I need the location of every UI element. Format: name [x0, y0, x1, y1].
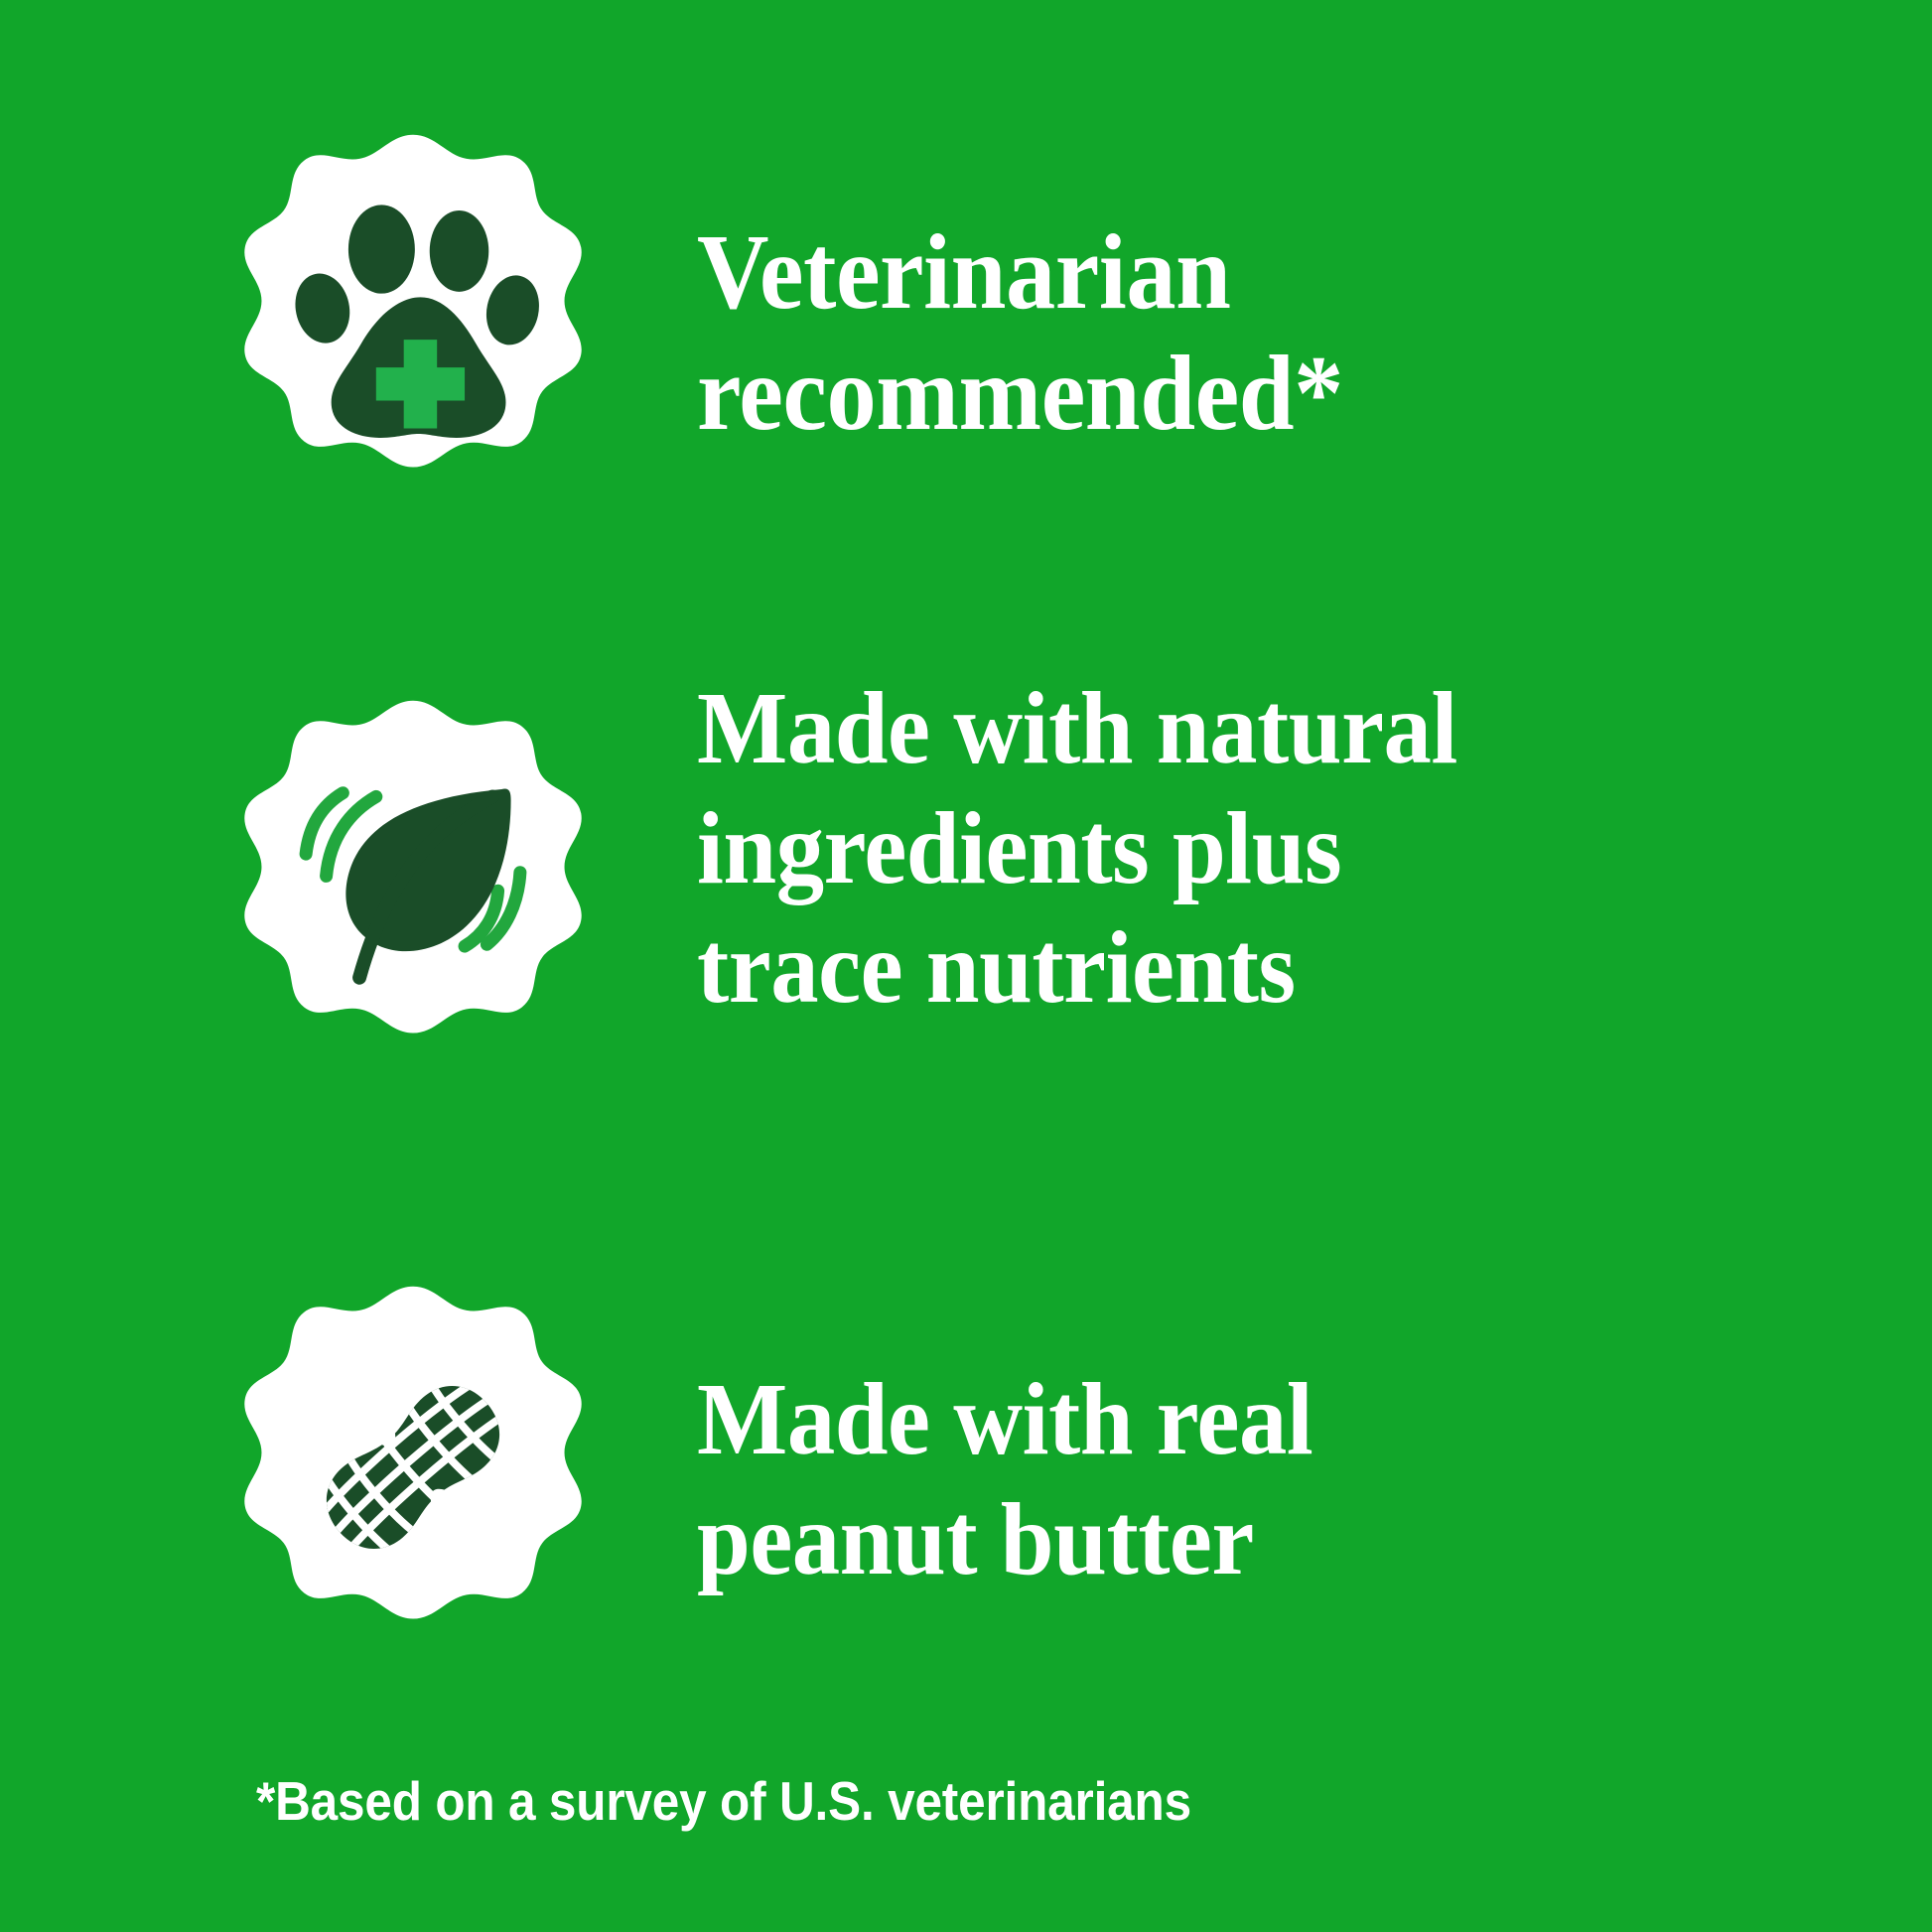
feature-headline: Made with real peanut butter	[697, 1360, 1312, 1599]
footnote-disclaimer: *Based on a survey of U.S. veterinarians	[256, 1769, 1191, 1833]
badge-scallop-shape	[228, 131, 598, 500]
feature-row: Made with real peanut butter	[0, 1283, 1932, 1652]
leaf-badge-icon	[228, 697, 598, 1066]
peanut-badge-icon	[228, 1283, 598, 1652]
feature-row: Veterinarian recommended*	[0, 131, 1932, 500]
feature-headline: Made with natural ingredients plus trace…	[697, 669, 1457, 1029]
feature-row: Made with natural ingredients plus trace…	[0, 697, 1932, 1066]
product-benefits-panel: Veterinarian recommended* Made with natu…	[0, 0, 1932, 1932]
paw-with-medical-cross-badge-icon	[228, 131, 598, 500]
badge-scallop-shape	[228, 1283, 598, 1652]
paw-toe-inner-right	[430, 210, 489, 292]
paw-toe-inner-left	[348, 205, 415, 293]
feature-headline: Veterinarian recommended*	[697, 212, 1343, 455]
badge-scallop-shape	[228, 697, 598, 1066]
